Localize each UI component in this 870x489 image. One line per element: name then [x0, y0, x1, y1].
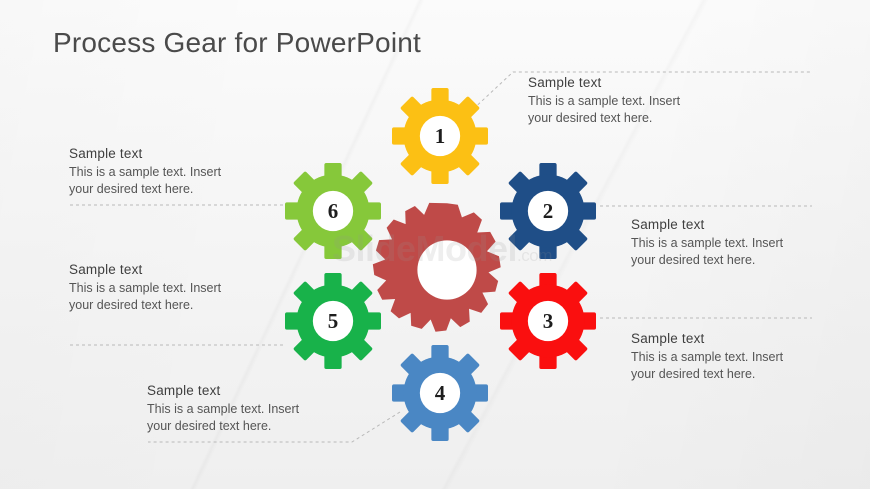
callout-5-body: This is a sample text. Insert your desir… — [69, 280, 244, 314]
callout-1-body: This is a sample text. Insert your desir… — [528, 93, 703, 127]
gear-4[interactable]: 4 — [392, 345, 488, 441]
gear-5[interactable]: 5 — [285, 273, 381, 369]
callout-4: Sample text This is a sample text. Inser… — [147, 383, 322, 435]
watermark-tld: .com — [517, 246, 552, 265]
callout-3-body: This is a sample text. Insert your desir… — [631, 349, 806, 383]
callout-5: Sample text This is a sample text. Inser… — [69, 262, 244, 314]
gear-3[interactable]: 3 — [500, 273, 596, 369]
callout-3: Sample text This is a sample text. Inser… — [631, 331, 806, 383]
callout-1-heading: Sample text — [528, 75, 703, 90]
gear-3-number: 3 — [500, 273, 596, 369]
callout-2: Sample text This is a sample text. Inser… — [631, 217, 806, 269]
callout-5-heading: Sample text — [69, 262, 244, 277]
callout-4-heading: Sample text — [147, 383, 322, 398]
gear-4-number: 4 — [392, 345, 488, 441]
callout-2-body: This is a sample text. Insert your desir… — [631, 235, 806, 269]
callout-2-heading: Sample text — [631, 217, 806, 232]
watermark-text: SlideModel — [332, 228, 517, 269]
watermark: SlideModel.com — [332, 228, 552, 270]
slide-canvas: Process Gear for PowerPoint — [0, 0, 870, 489]
callout-4-body: This is a sample text. Insert your desir… — [147, 401, 322, 435]
callout-3-heading: Sample text — [631, 331, 806, 346]
gear-1-number: 1 — [392, 88, 488, 184]
callout-6: Sample text This is a sample text. Inser… — [69, 146, 244, 198]
gear-5-number: 5 — [285, 273, 381, 369]
callout-6-heading: Sample text — [69, 146, 244, 161]
center-gear[interactable] — [373, 196, 521, 344]
callout-1: Sample text This is a sample text. Inser… — [528, 75, 703, 127]
gear-1[interactable]: 1 — [392, 88, 488, 184]
page-title: Process Gear for PowerPoint — [53, 27, 421, 59]
callout-6-body: This is a sample text. Insert your desir… — [69, 164, 244, 198]
